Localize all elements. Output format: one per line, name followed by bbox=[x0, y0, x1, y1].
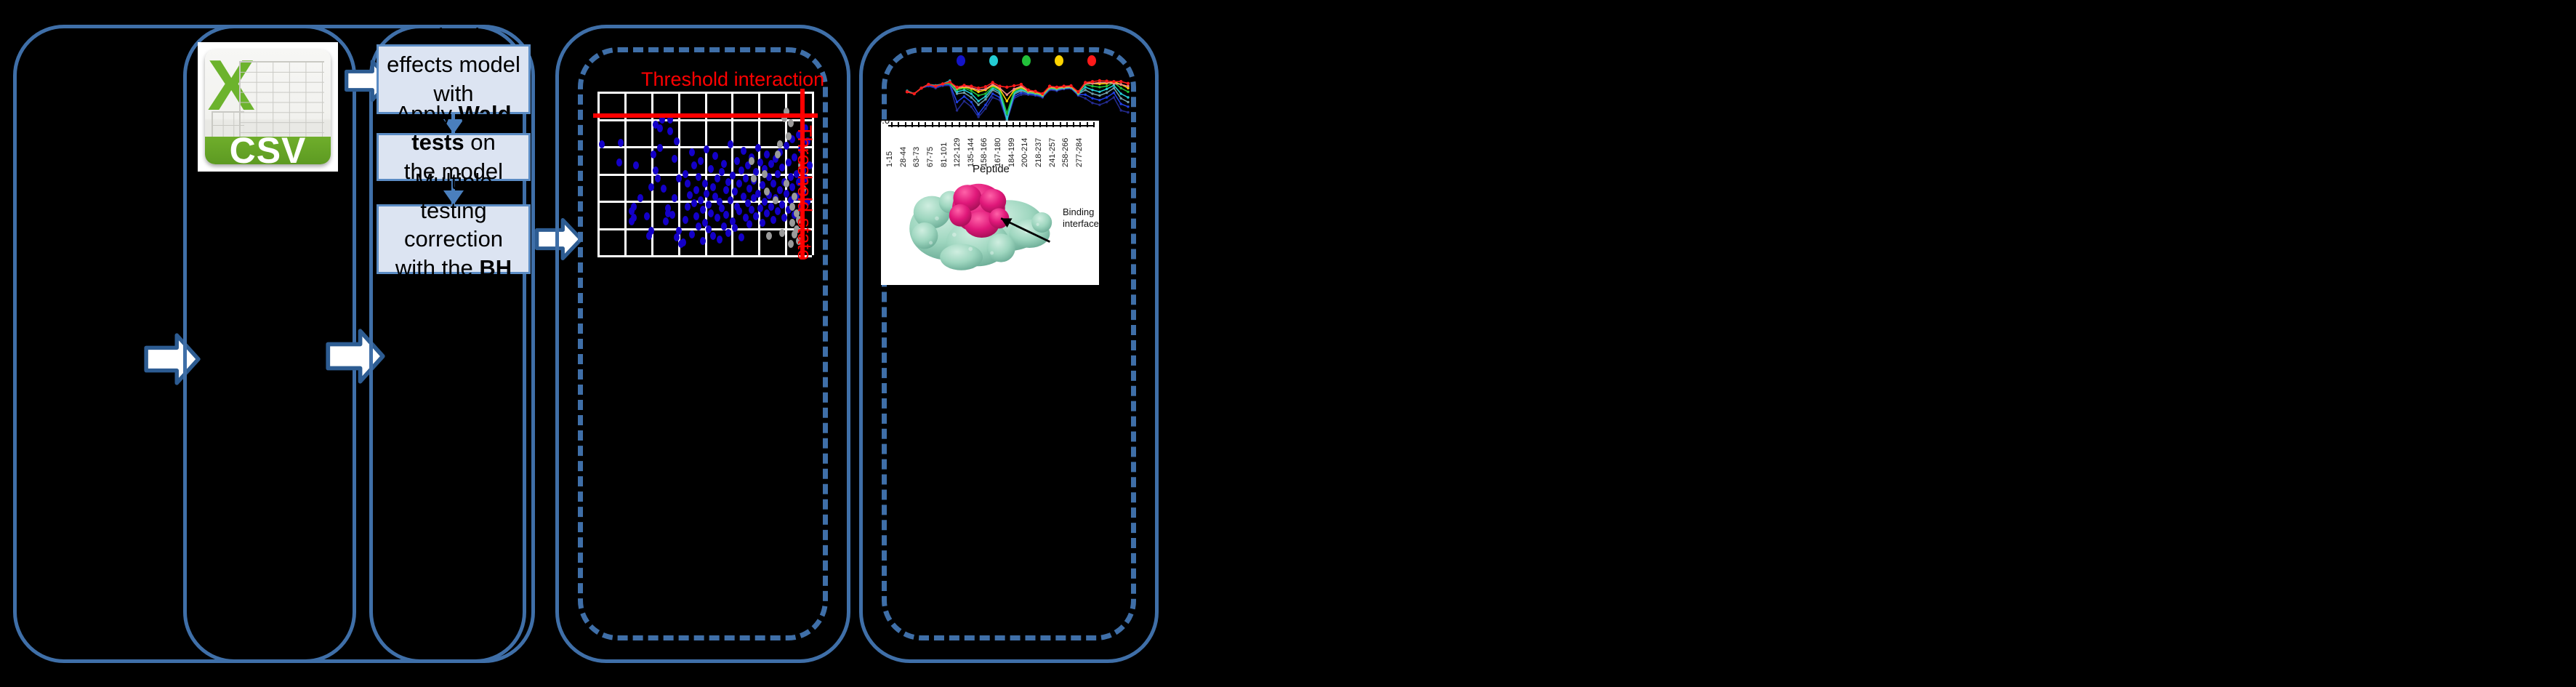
legend-dot-series-navy bbox=[957, 55, 965, 66]
scatter-point-significant bbox=[680, 238, 686, 246]
marker-blue bbox=[1106, 96, 1108, 98]
marker-steel bbox=[1106, 92, 1108, 94]
protein-surface-render bbox=[901, 172, 1054, 273]
scatter-point-significant bbox=[755, 144, 761, 152]
marker-salmon bbox=[1127, 85, 1129, 87]
marker-green bbox=[970, 89, 973, 92]
scatter-point-significant bbox=[706, 201, 712, 209]
marker-navy bbox=[1127, 111, 1129, 113]
marker-red bbox=[919, 87, 922, 89]
marker-red bbox=[1055, 86, 1058, 89]
threshold-state-label: Threshold state bbox=[793, 125, 816, 260]
marker-red bbox=[941, 82, 944, 85]
peptide-label: 258-266 bbox=[1061, 138, 1070, 167]
marker-red bbox=[1084, 81, 1087, 84]
scatter-point-significant bbox=[736, 207, 742, 215]
scatter-point-significant bbox=[732, 224, 738, 232]
scatter-point-significant bbox=[696, 173, 701, 181]
scatter-point-significant bbox=[760, 219, 765, 227]
marker-green bbox=[1106, 85, 1108, 87]
marker-red bbox=[934, 84, 937, 87]
marker-navy bbox=[1098, 104, 1100, 106]
marker-red bbox=[949, 81, 951, 84]
grid-line-horizontal bbox=[597, 119, 812, 121]
marker-red bbox=[1069, 84, 1072, 87]
marker-red bbox=[1112, 80, 1115, 83]
scatter-point-significant bbox=[717, 236, 723, 244]
scatter-point-significant bbox=[693, 212, 699, 220]
marker-red bbox=[1027, 89, 1030, 92]
marker-red bbox=[1020, 83, 1023, 86]
scatter-point-significant bbox=[712, 152, 718, 160]
y-axis-tick-0: 0.0 bbox=[881, 121, 890, 126]
marker-yellow bbox=[1006, 100, 1008, 102]
marker-blue bbox=[1098, 99, 1100, 101]
marker-red bbox=[1063, 84, 1066, 87]
scatter-point-significant bbox=[685, 203, 691, 211]
scatter-point-significant bbox=[631, 203, 637, 211]
scatter-point-significant bbox=[689, 148, 695, 156]
legend-dot-series-yellow bbox=[1055, 55, 1063, 66]
peptide-tick bbox=[1052, 122, 1054, 127]
scatter-point-significant bbox=[732, 188, 738, 196]
marker-red bbox=[1105, 79, 1108, 82]
peptide-uptake-chart bbox=[894, 64, 1134, 122]
marker-blue bbox=[1113, 92, 1115, 94]
marker-blue bbox=[991, 92, 994, 95]
peptide-tick bbox=[1033, 122, 1034, 127]
marker-steel bbox=[970, 96, 973, 98]
scatter-point-significant bbox=[676, 227, 682, 235]
peptide-tick bbox=[925, 122, 926, 127]
peptide-label: 122-129 bbox=[953, 138, 962, 167]
scatter-point-significant bbox=[653, 166, 659, 174]
scatter-point-significant bbox=[661, 185, 667, 193]
marker-cyan bbox=[970, 92, 973, 95]
scatter-point-significant bbox=[715, 214, 720, 222]
scatter-point-significant bbox=[738, 233, 744, 241]
peptide-label: 1-15 bbox=[885, 151, 894, 167]
marker-red bbox=[1034, 90, 1037, 93]
marker-red bbox=[1005, 86, 1008, 89]
scatter-point-significant bbox=[741, 147, 746, 155]
peptide-tick bbox=[1013, 122, 1014, 127]
scatter-point-significant bbox=[667, 127, 673, 135]
peptide-tick bbox=[1026, 122, 1027, 127]
scatter-point-significant bbox=[691, 161, 697, 169]
scatter-point-nonsignificant bbox=[775, 150, 781, 158]
scatter-point-significant bbox=[781, 214, 787, 222]
marker-blue bbox=[963, 95, 965, 97]
marker-navy bbox=[991, 96, 994, 98]
peptide-label: 218-237 bbox=[1034, 138, 1043, 167]
peptide-tick bbox=[999, 122, 1000, 127]
peptide-tick bbox=[1066, 122, 1068, 127]
marker-red bbox=[962, 84, 965, 87]
scatter-point-nonsignificant bbox=[779, 229, 785, 237]
marker-steel bbox=[984, 98, 986, 100]
scatter-point-significant bbox=[730, 172, 736, 180]
marker-steel bbox=[1084, 89, 1087, 91]
peptide-label: 63-73 bbox=[912, 147, 921, 167]
figure-canvas: X CSV Fit a linear mixed-effects model w… bbox=[0, 0, 2576, 687]
protein-structure-card: 1-1528-4463-7367-7581-101122-129135-1441… bbox=[881, 121, 1099, 285]
marker-red bbox=[1119, 80, 1122, 83]
peptide-label: 241-257 bbox=[1048, 138, 1057, 167]
peptide-tick bbox=[959, 122, 960, 127]
marker-red bbox=[1076, 90, 1079, 93]
marker-blue bbox=[977, 113, 979, 115]
scatter-point-significant bbox=[631, 214, 637, 222]
binding-interface-label: Bindinginterface bbox=[1063, 206, 1099, 230]
peptide-label: 28-44 bbox=[899, 147, 908, 167]
marker-cyan bbox=[1091, 89, 1093, 91]
scatter-point-significant bbox=[657, 124, 663, 132]
threshold-interaction-label: Threshold interaction bbox=[641, 68, 824, 91]
scatter-point-significant bbox=[775, 207, 781, 215]
scatter-point-significant bbox=[651, 150, 656, 158]
marker-red bbox=[913, 92, 916, 95]
marker-navy bbox=[1084, 97, 1087, 100]
scatter-point-significant bbox=[725, 229, 731, 237]
marker-navy bbox=[1120, 109, 1122, 111]
scatter-point-significant bbox=[708, 209, 714, 217]
scatter-point-significant bbox=[779, 164, 785, 172]
marker-cyan bbox=[977, 100, 979, 102]
marker-navy bbox=[956, 109, 958, 111]
scatter-point-significant bbox=[786, 158, 792, 166]
marker-red bbox=[1127, 82, 1130, 85]
scatter-point-significant bbox=[693, 186, 699, 194]
marker-red bbox=[998, 84, 1001, 87]
marker-green bbox=[1127, 91, 1129, 93]
peptide-label: 277-284 bbox=[1075, 138, 1084, 167]
marker-blue bbox=[1091, 97, 1093, 100]
peptide-tick bbox=[945, 122, 946, 127]
scatter-point-significant bbox=[657, 144, 663, 152]
csv-format-band: CSV bbox=[205, 137, 331, 164]
marker-red bbox=[991, 81, 994, 84]
scatter-point-significant bbox=[762, 198, 768, 206]
marker-cyan bbox=[1127, 96, 1129, 98]
scatter-point-significant bbox=[663, 217, 669, 225]
peptide-tick bbox=[1087, 122, 1088, 127]
step-multiple-testing-text: Multiple testingcorrectionwith the BH pr… bbox=[386, 167, 521, 311]
marker-cyan bbox=[1006, 117, 1008, 119]
peptide-tick bbox=[905, 122, 906, 127]
scatter-point-significant bbox=[723, 186, 729, 194]
marker-cyan bbox=[1098, 91, 1100, 93]
marker-red bbox=[1013, 84, 1015, 87]
csv-format-label: CSV bbox=[230, 129, 307, 164]
marker-red bbox=[977, 87, 980, 89]
scatter-point-significant bbox=[728, 196, 733, 204]
scatter-point-significant bbox=[648, 183, 654, 191]
scatter-point-significant bbox=[698, 196, 704, 204]
marker-salmon bbox=[1006, 94, 1008, 96]
grid-line-horizontal bbox=[597, 255, 812, 257]
marker-steel bbox=[977, 104, 979, 106]
scatter-point-significant bbox=[755, 190, 761, 198]
peptide-line-series bbox=[894, 64, 1134, 122]
peptide-label: 67-75 bbox=[926, 147, 935, 167]
marker-cyan bbox=[1106, 88, 1108, 90]
scatter-point-significant bbox=[721, 222, 727, 230]
marker-red bbox=[955, 86, 958, 89]
threshold-interaction-line bbox=[593, 113, 818, 118]
scatter-point-nonsignificant bbox=[766, 232, 772, 240]
marker-steel bbox=[1127, 101, 1129, 103]
marker-steel bbox=[1091, 92, 1093, 95]
grid-line-horizontal bbox=[597, 92, 812, 94]
marker-green bbox=[1091, 85, 1093, 87]
marker-steel bbox=[1120, 97, 1122, 100]
marker-red bbox=[1098, 79, 1101, 82]
peptide-tick bbox=[1046, 122, 1047, 127]
scatter-point-significant bbox=[764, 209, 770, 217]
scatter-point-significant bbox=[655, 174, 661, 182]
scatter-point-significant bbox=[704, 190, 709, 198]
scatter-point-significant bbox=[710, 183, 716, 191]
scatter-point-nonsignificant bbox=[762, 170, 768, 178]
scatter-point-significant bbox=[777, 186, 783, 194]
scatter-point-significant bbox=[775, 170, 781, 178]
marker-steel bbox=[963, 92, 965, 94]
marker-salmon bbox=[1013, 88, 1015, 90]
csv-file-icon: X CSV bbox=[205, 49, 331, 164]
marker-blue bbox=[984, 104, 986, 106]
scatter-point-nonsignificant bbox=[777, 140, 783, 148]
marker-navy bbox=[1106, 101, 1108, 103]
peptide-tick bbox=[1079, 122, 1081, 127]
peptide-tick bbox=[1060, 122, 1061, 127]
marker-blue bbox=[970, 101, 973, 103]
peptide-tick bbox=[911, 122, 913, 127]
scatter-point-nonsignificant bbox=[773, 196, 778, 204]
marker-salmon bbox=[1120, 83, 1122, 85]
scatter-point-significant bbox=[764, 150, 770, 158]
scatter-point-significant bbox=[685, 180, 691, 188]
legend-dot-series-green bbox=[1022, 55, 1031, 66]
scatter-point-nonsignificant bbox=[784, 180, 789, 188]
marker-blue bbox=[956, 101, 958, 103]
scatter-point-significant bbox=[738, 166, 744, 174]
scatter-point-significant bbox=[715, 174, 720, 182]
step-multiple-testing: Multiple testingcorrectionwith the BH pr… bbox=[377, 204, 531, 274]
scatter-point-significant bbox=[674, 137, 680, 145]
peptide-tick bbox=[951, 122, 953, 127]
marker-green bbox=[1120, 87, 1122, 89]
scatter-point-significant bbox=[725, 178, 731, 186]
scatter-point-significant bbox=[779, 201, 785, 209]
scatter-point-significant bbox=[743, 174, 749, 182]
peptide-tick bbox=[898, 122, 899, 127]
scatter-point-significant bbox=[746, 185, 752, 193]
marker-red bbox=[1091, 80, 1094, 83]
scatter-point-significant bbox=[633, 161, 639, 169]
scatter-point-significant bbox=[672, 155, 677, 163]
marker-navy bbox=[1091, 102, 1093, 104]
scatter-point-significant bbox=[768, 203, 774, 211]
scatter-point-significant bbox=[644, 212, 650, 220]
peptide-tick bbox=[1039, 122, 1041, 127]
peptide-tick bbox=[1093, 122, 1095, 127]
scatter-point-significant bbox=[669, 211, 675, 219]
marker-cyan bbox=[984, 95, 986, 97]
marker-navy bbox=[970, 105, 973, 108]
scatter-plot-area bbox=[597, 92, 812, 255]
scatter-point-significant bbox=[784, 190, 789, 198]
marker-navy bbox=[984, 108, 986, 110]
peptide-tick bbox=[978, 122, 980, 127]
peptide-tick bbox=[891, 122, 893, 127]
scatter-point-significant bbox=[704, 145, 709, 153]
csv-file-card: X CSV bbox=[198, 42, 338, 172]
scatter-point-significant bbox=[698, 157, 704, 165]
peptide-tick bbox=[965, 122, 967, 127]
marker-blue bbox=[1127, 105, 1129, 108]
peptide-tick bbox=[1019, 122, 1021, 127]
scatter-point-significant bbox=[700, 206, 706, 214]
scatter-point-significant bbox=[721, 160, 727, 168]
scatter-point-significant bbox=[676, 174, 682, 182]
scatter-point-significant bbox=[784, 142, 789, 150]
peptide-tick bbox=[972, 122, 973, 127]
scatter-point-significant bbox=[708, 165, 714, 173]
peptide-tick bbox=[1006, 122, 1007, 127]
scatter-point-significant bbox=[728, 140, 733, 148]
marker-navy bbox=[977, 116, 979, 118]
marker-steel bbox=[1098, 95, 1100, 97]
scatter-point-significant bbox=[736, 180, 742, 188]
scatter-point-significant bbox=[702, 180, 708, 188]
marker-red bbox=[927, 83, 930, 86]
marker-navy bbox=[963, 100, 965, 102]
peptide-tick bbox=[938, 122, 940, 127]
volcano-scatter: Threshold interaction Threshold state bbox=[581, 58, 829, 269]
legend-dot-series-cyan bbox=[989, 55, 998, 66]
scatter-point-significant bbox=[683, 216, 688, 224]
scatter-point-significant bbox=[770, 216, 776, 224]
scatter-point-significant bbox=[616, 158, 622, 166]
scatter-point-significant bbox=[689, 230, 695, 238]
marker-green bbox=[984, 92, 986, 95]
marker-red bbox=[1048, 84, 1051, 87]
scatter-point-significant bbox=[723, 211, 729, 219]
peptide-tick bbox=[932, 122, 933, 127]
marker-green bbox=[977, 95, 979, 97]
peptide-tick bbox=[1073, 122, 1074, 127]
scatter-point-significant bbox=[757, 204, 763, 212]
peptide-tick bbox=[918, 122, 919, 127]
peptide-tick bbox=[992, 122, 994, 127]
peptide-tick bbox=[986, 122, 987, 127]
marker-navy bbox=[1113, 96, 1115, 98]
scatter-point-significant bbox=[683, 170, 688, 178]
scatter-point-significant bbox=[599, 140, 605, 148]
scatter-point-significant bbox=[734, 157, 740, 165]
marker-blue bbox=[1084, 94, 1087, 96]
scatter-point-significant bbox=[687, 191, 693, 199]
scatter-point-significant bbox=[710, 232, 716, 240]
peptide-label: 81-101 bbox=[940, 142, 949, 167]
marker-cyan bbox=[1120, 92, 1122, 95]
marker-red bbox=[906, 90, 909, 93]
scatter-point-significant bbox=[696, 222, 701, 230]
marker-blue bbox=[1120, 103, 1122, 105]
scatter-point-nonsignificant bbox=[786, 132, 792, 140]
scatter-point-significant bbox=[648, 227, 654, 235]
scatter-point-significant bbox=[770, 180, 776, 188]
marker-red bbox=[970, 84, 973, 87]
marker-red bbox=[1041, 92, 1044, 95]
legend-dot-series-red bbox=[1087, 55, 1096, 66]
scatter-point-significant bbox=[691, 199, 697, 207]
marker-green bbox=[1006, 112, 1008, 114]
spreadsheet-grid bbox=[239, 61, 325, 138]
scatter-point-significant bbox=[700, 237, 706, 245]
marker-red bbox=[984, 85, 987, 88]
peptide-label: 200-214 bbox=[1021, 138, 1029, 167]
marker-green bbox=[1098, 86, 1100, 88]
